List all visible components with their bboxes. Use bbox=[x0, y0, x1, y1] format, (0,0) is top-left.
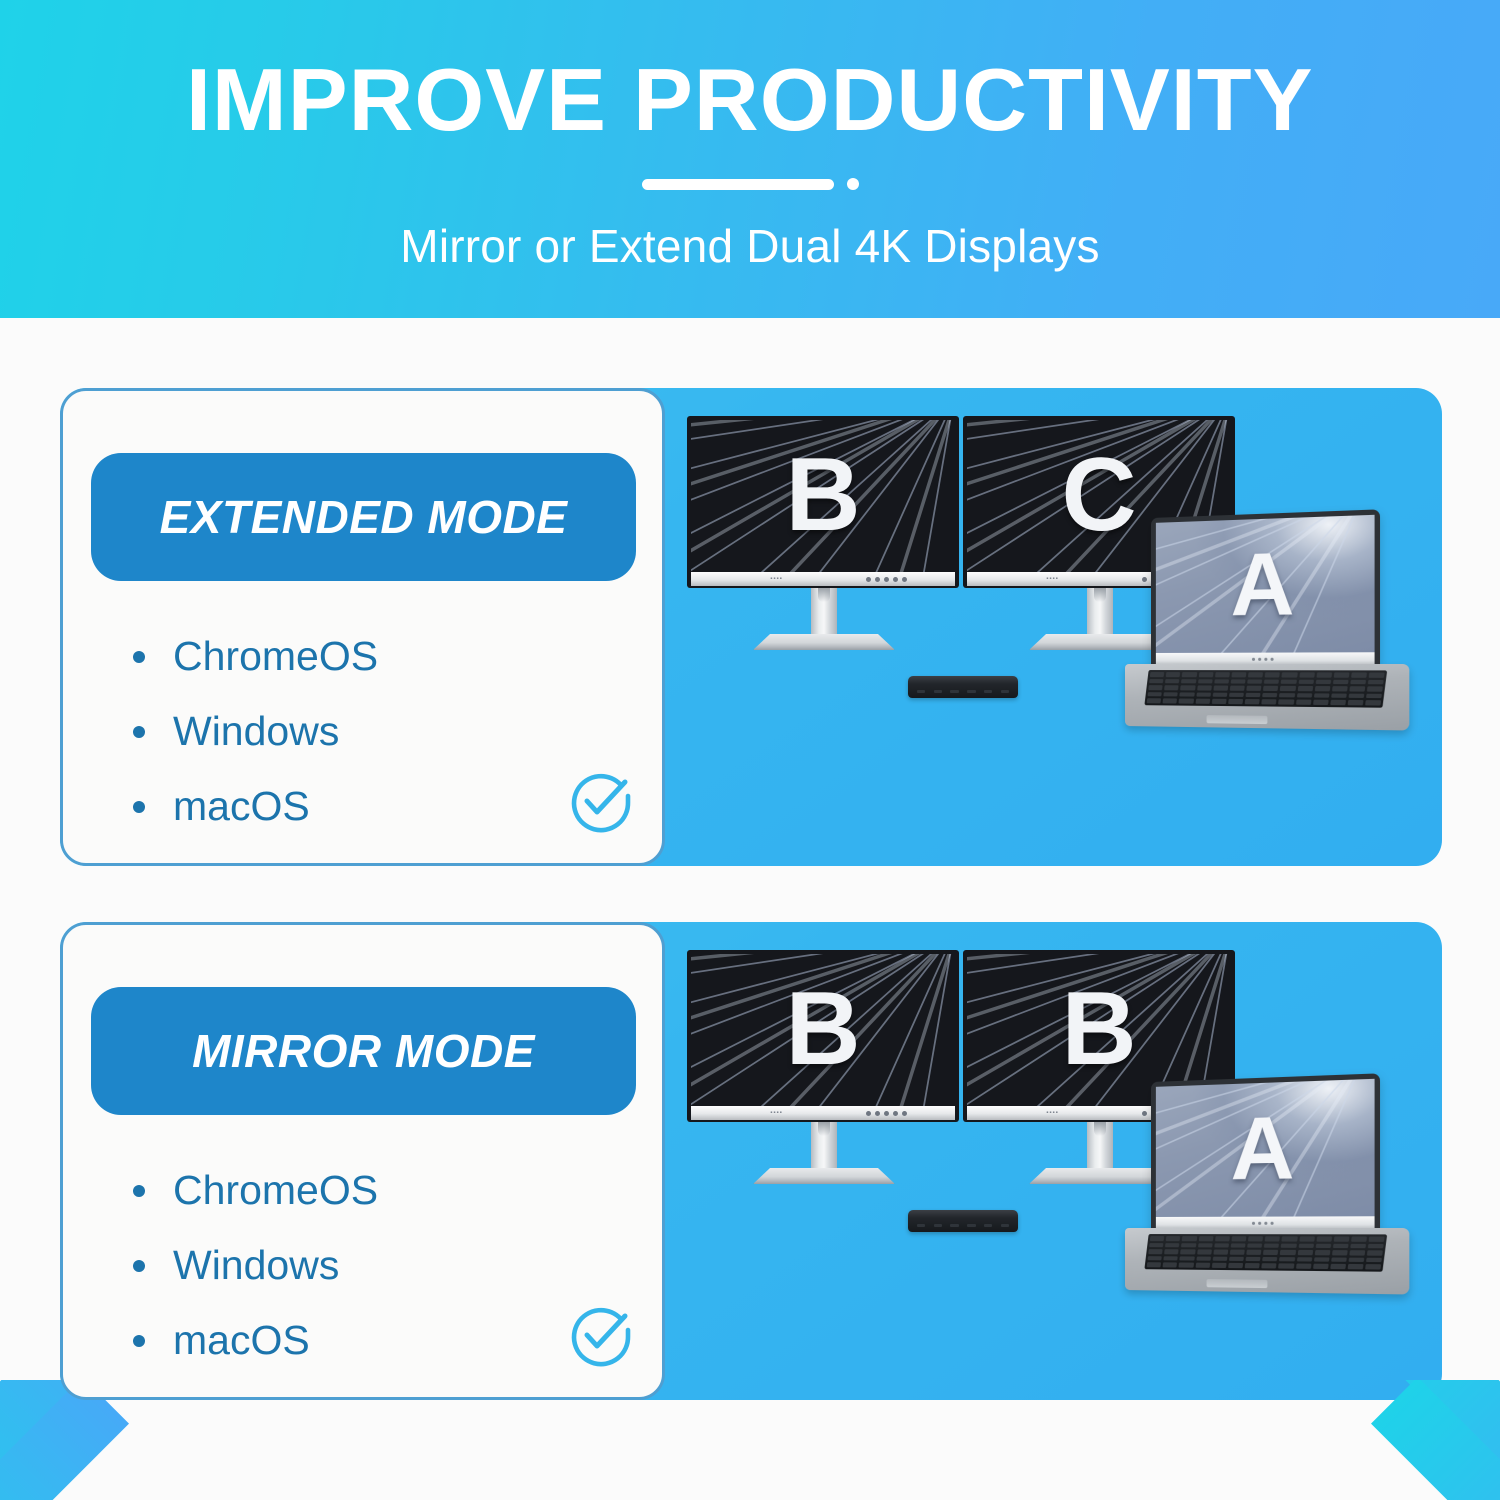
control-dot[interactable] bbox=[893, 1111, 898, 1116]
laptop-control-dot bbox=[1270, 1222, 1273, 1225]
monitor-letter: B bbox=[785, 448, 860, 544]
port-icon bbox=[950, 690, 958, 693]
list-item: ChromeOS bbox=[133, 619, 603, 694]
laptop-lid: A bbox=[1151, 509, 1380, 666]
laptop-control-dot bbox=[1258, 1222, 1261, 1225]
monitor-controls[interactable] bbox=[866, 1111, 955, 1116]
laptop-control-dot bbox=[1251, 658, 1254, 661]
monitor-controls[interactable] bbox=[866, 577, 955, 582]
control-dot[interactable] bbox=[875, 577, 880, 582]
corner-accent-right bbox=[1280, 1380, 1500, 1500]
page-header: IMPROVE PRODUCTIVITY Mirror or Extend Du… bbox=[0, 0, 1500, 318]
os-list-mirror: ChromeOS Windows macOS bbox=[133, 1153, 603, 1378]
bullet-icon bbox=[133, 726, 145, 738]
os-label: Windows bbox=[173, 1242, 339, 1289]
control-dot[interactable] bbox=[866, 577, 871, 582]
device-scene-extended: B ▪▪▪▪ bbox=[665, 388, 1442, 866]
monitor-stand-base bbox=[753, 634, 895, 650]
list-item: macOS bbox=[133, 769, 603, 844]
monitor-letter: C bbox=[1061, 448, 1136, 544]
laptop: A bbox=[1125, 518, 1415, 733]
laptop-letter: A bbox=[1230, 545, 1294, 626]
docking-station bbox=[908, 676, 1018, 698]
dock-ports bbox=[917, 1224, 1009, 1227]
laptop-keyboard[interactable] bbox=[1144, 670, 1387, 707]
os-label: macOS bbox=[173, 783, 310, 830]
control-dot[interactable] bbox=[884, 1111, 889, 1116]
control-dot[interactable] bbox=[902, 577, 907, 582]
laptop-base bbox=[1125, 664, 1409, 731]
control-dot[interactable] bbox=[902, 1111, 907, 1116]
monitor-brand-mark: ▪▪▪▪ bbox=[1046, 576, 1059, 582]
os-label: ChromeOS bbox=[173, 633, 378, 680]
mode-badge-label: EXTENDED MODE bbox=[160, 490, 568, 544]
list-item: Windows bbox=[133, 1228, 603, 1303]
page-subtitle: Mirror or Extend Dual 4K Displays bbox=[400, 219, 1099, 273]
monitor-stand-neck bbox=[1087, 588, 1113, 640]
bullet-icon bbox=[133, 1185, 145, 1197]
laptop-lid: A bbox=[1151, 1073, 1380, 1230]
os-label: macOS bbox=[173, 1317, 310, 1364]
laptop-trackpad[interactable] bbox=[1206, 715, 1268, 725]
monitor-left: B ▪▪▪▪ bbox=[687, 950, 959, 1122]
port-icon bbox=[984, 690, 992, 693]
port-icon bbox=[917, 1224, 925, 1227]
laptop-control-dot bbox=[1270, 658, 1273, 661]
divider-bar-icon bbox=[642, 179, 834, 190]
monitor-wallpaper: B bbox=[691, 954, 955, 1106]
divider-dot-icon bbox=[847, 178, 859, 190]
port-icon bbox=[967, 690, 975, 693]
monitor-stand-neck bbox=[811, 588, 837, 640]
control-dot[interactable] bbox=[884, 577, 889, 582]
monitor-brand-mark: ▪▪▪▪ bbox=[1046, 1110, 1059, 1116]
control-dot[interactable] bbox=[866, 1111, 871, 1116]
bullet-icon bbox=[133, 1260, 145, 1272]
laptop-control-dot bbox=[1258, 658, 1261, 661]
monitor-wallpaper: B bbox=[691, 420, 955, 572]
header-divider bbox=[642, 178, 859, 190]
port-icon bbox=[934, 690, 942, 693]
info-card-mirror: MIRROR MODE ChromeOS Windows macOS bbox=[60, 922, 665, 1400]
os-label: ChromeOS bbox=[173, 1167, 378, 1214]
laptop-letter: A bbox=[1230, 1109, 1294, 1190]
mode-badge-mirror[interactable]: MIRROR MODE bbox=[91, 987, 636, 1115]
laptop-trackpad[interactable] bbox=[1206, 1279, 1268, 1289]
port-icon bbox=[917, 690, 925, 693]
laptop: A bbox=[1125, 1082, 1415, 1297]
port-icon bbox=[950, 1224, 958, 1227]
dock-ports bbox=[917, 690, 1009, 693]
bullet-icon bbox=[133, 651, 145, 663]
laptop-wallpaper: A bbox=[1156, 515, 1375, 653]
panel-extended-mode: EXTENDED MODE ChromeOS Windows macOS bbox=[60, 388, 1442, 866]
mode-badge-label: MIRROR MODE bbox=[192, 1024, 535, 1078]
monitor-brand-mark: ▪▪▪▪ bbox=[770, 1110, 783, 1116]
monitor-letter: B bbox=[1061, 982, 1136, 1078]
mode-badge-extended[interactable]: EXTENDED MODE bbox=[91, 453, 636, 581]
os-list-extended: ChromeOS Windows macOS bbox=[133, 619, 603, 844]
bullet-icon bbox=[133, 1335, 145, 1347]
control-dot[interactable] bbox=[875, 1111, 880, 1116]
port-icon bbox=[1001, 1224, 1009, 1227]
panel-mirror-mode: MIRROR MODE ChromeOS Windows macOS bbox=[60, 922, 1442, 1400]
docking-station bbox=[908, 1210, 1018, 1232]
laptop-wallpaper: A bbox=[1156, 1079, 1375, 1217]
monitor-left: B ▪▪▪▪ bbox=[687, 416, 959, 588]
monitor-brand-mark: ▪▪▪▪ bbox=[770, 576, 783, 582]
laptop-base bbox=[1125, 1228, 1409, 1295]
monitor-stand-base bbox=[753, 1168, 895, 1184]
laptop-control-dot bbox=[1264, 1222, 1267, 1225]
port-icon bbox=[984, 1224, 992, 1227]
info-card-extended: EXTENDED MODE ChromeOS Windows macOS bbox=[60, 388, 665, 866]
bullet-icon bbox=[133, 801, 145, 813]
list-item: Windows bbox=[133, 694, 603, 769]
check-circle-icon bbox=[564, 1297, 638, 1371]
list-item: ChromeOS bbox=[133, 1153, 603, 1228]
control-dot[interactable] bbox=[893, 577, 898, 582]
check-circle-icon bbox=[564, 763, 638, 837]
port-icon bbox=[1001, 690, 1009, 693]
port-icon bbox=[967, 1224, 975, 1227]
list-item: macOS bbox=[133, 1303, 603, 1378]
port-icon bbox=[934, 1224, 942, 1227]
device-scene-mirror: B ▪▪▪▪ bbox=[665, 922, 1442, 1400]
os-label: Windows bbox=[173, 708, 339, 755]
page-title: IMPROVE PRODUCTIVITY bbox=[186, 56, 1314, 144]
monitor-letter: B bbox=[785, 982, 860, 1078]
monitor-stand-neck bbox=[1087, 1122, 1113, 1174]
laptop-control-dot bbox=[1251, 1222, 1254, 1225]
monitor-stand-neck bbox=[811, 1122, 837, 1174]
laptop-control-dot bbox=[1264, 658, 1267, 661]
laptop-keyboard[interactable] bbox=[1144, 1234, 1387, 1271]
